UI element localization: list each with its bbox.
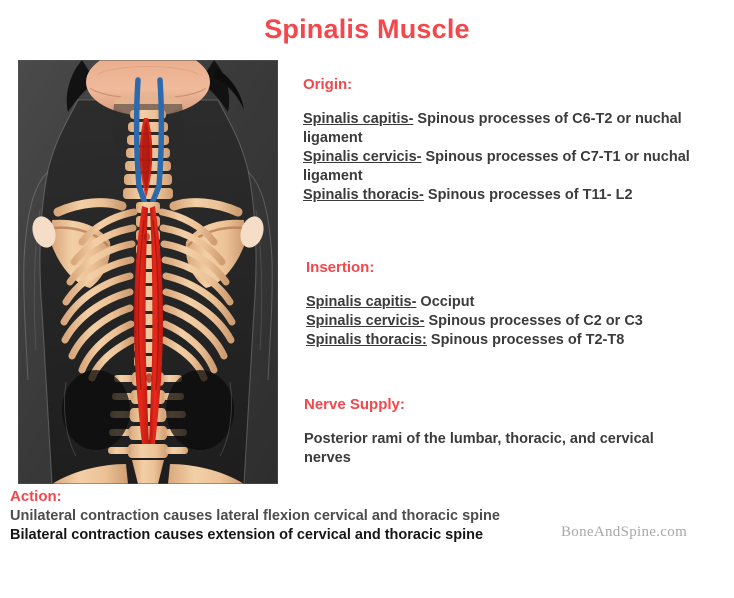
anatomy-figure [18, 60, 278, 484]
action-block: Action: Unilateral contraction causes la… [10, 488, 630, 545]
insertion-heading: Insertion: [306, 259, 726, 276]
origin-item-2-text: Spinous processes of T11- L2 [424, 187, 633, 203]
insertion-item-1-text: Spinous processes of C2 or C3 [424, 313, 642, 329]
nerve-supply-block: Nerve Supply: Posterior rami of the lumb… [304, 396, 724, 468]
infographic-page: Spinalis Muscle [0, 0, 734, 598]
insertion-list: Spinalis capitis- Occiput Spinalis cervi… [306, 293, 726, 350]
origin-list: Spinalis capitis- Spinous processes of C… [303, 110, 723, 205]
origin-heading: Origin: [303, 76, 723, 93]
origin-item-1-name: Spinalis cervicis- [303, 149, 421, 165]
insertion-item-0-name: Spinalis capitis- [306, 294, 416, 310]
skeleton-illustration [18, 60, 278, 484]
insertion-item-0-text: Occiput [416, 294, 474, 310]
page-title: Spinalis Muscle [0, 14, 734, 45]
site-watermark: BoneAndSpine.com [561, 524, 687, 541]
nerve-supply-heading: Nerve Supply: [304, 396, 724, 413]
action-bilateral: Bilateral contraction causes extension o… [10, 526, 550, 545]
insertion-item-2-text: Spinous processes of T2-T8 [427, 332, 624, 348]
origin-block: Origin: Spinalis capitis- Spinous proces… [303, 76, 723, 205]
action-unilateral: Unilateral contraction causes lateral fl… [10, 507, 550, 526]
origin-item-2-name: Spinalis thoracis- [303, 187, 424, 203]
insertion-block: Insertion: Spinalis capitis- Occiput Spi… [306, 259, 726, 350]
insertion-item-2-name: Spinalis thoracis: [306, 332, 427, 348]
insertion-item-1-name: Spinalis cervicis- [306, 313, 424, 329]
nerve-supply-text: Posterior rami of the lumbar, thoracic, … [304, 430, 664, 468]
origin-item-0-name: Spinalis capitis- [303, 111, 413, 127]
action-heading: Action: [10, 488, 630, 505]
